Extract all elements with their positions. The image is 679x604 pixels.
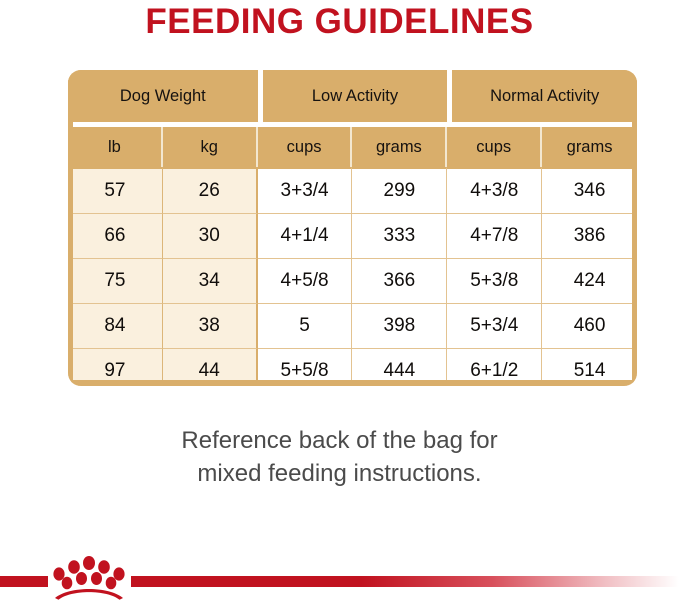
cell-normal-grams: 460 (542, 303, 637, 348)
feeding-guidelines-table: Dog Weight Low Activity Normal Activity … (68, 70, 637, 386)
cell-kg: 34 (163, 258, 258, 303)
reference-note-line-1: Reference back of the bag for (0, 424, 679, 457)
brand-footer (0, 540, 679, 604)
sub-header-low-cups: cups (258, 127, 353, 167)
cell-low-grams: 333 (352, 213, 447, 258)
cell-low-grams: 299 (352, 167, 447, 213)
table-sub-header-row: lb kg cups grams cups grams (68, 127, 637, 167)
cell-normal-grams: 386 (542, 213, 637, 258)
sub-header-normal-grams: grams (542, 127, 637, 167)
cell-normal-cups: 4+3/8 (447, 167, 542, 213)
cell-low-cups: 4+1/4 (258, 213, 353, 258)
group-header-dog-weight: Dog Weight (68, 70, 258, 127)
cell-normal-cups: 5+3/8 (447, 258, 542, 303)
table-left-rail (68, 70, 73, 386)
table-right-rail (632, 70, 637, 386)
page-title: FEEDING GUIDELINES (0, 0, 679, 46)
cell-normal-grams: 424 (542, 258, 637, 303)
cell-kg: 26 (163, 167, 258, 213)
group-header-low-activity: Low Activity (258, 70, 448, 127)
cell-lb: 75 (68, 258, 163, 303)
reference-note: Reference back of the bag for mixed feed… (0, 424, 679, 490)
royal-canin-crown-icon (47, 550, 131, 600)
cell-low-grams: 366 (352, 258, 447, 303)
group-header-normal-activity: Normal Activity (447, 70, 637, 127)
cell-low-cups: 4+5/8 (258, 258, 353, 303)
cell-lb: 66 (68, 213, 163, 258)
sub-header-normal-cups: cups (447, 127, 542, 167)
cell-low-cups: 5 (258, 303, 353, 348)
sub-header-low-grams: grams (352, 127, 447, 167)
table-row: 57 26 3+3/4 299 4+3/8 346 (68, 167, 637, 213)
table-row: 75 34 4+5/8 366 5+3/8 424 (68, 258, 637, 303)
cell-low-cups: 3+3/4 (258, 167, 353, 213)
cell-lb: 57 (68, 167, 163, 213)
cell-lb: 84 (68, 303, 163, 348)
cell-normal-cups: 5+3/4 (447, 303, 542, 348)
table-bottom-rail (68, 380, 637, 386)
cell-low-grams: 398 (352, 303, 447, 348)
brand-bar-right-segment (131, 576, 679, 587)
table-group-header-row: Dog Weight Low Activity Normal Activity (68, 70, 637, 127)
table-row: 84 38 5 398 5+3/4 460 (68, 303, 637, 348)
cell-kg: 38 (163, 303, 258, 348)
reference-note-line-2: mixed feeding instructions. (0, 457, 679, 490)
cell-kg: 30 (163, 213, 258, 258)
sub-header-kg: kg (163, 127, 258, 167)
cell-normal-cups: 4+7/8 (447, 213, 542, 258)
table-row: 66 30 4+1/4 333 4+7/8 386 (68, 213, 637, 258)
brand-bar-left-segment (0, 576, 48, 587)
sub-header-lb: lb (68, 127, 163, 167)
cell-normal-grams: 346 (542, 167, 637, 213)
table-body: 57 26 3+3/4 299 4+3/8 346 66 30 4+1/4 33… (68, 167, 637, 386)
